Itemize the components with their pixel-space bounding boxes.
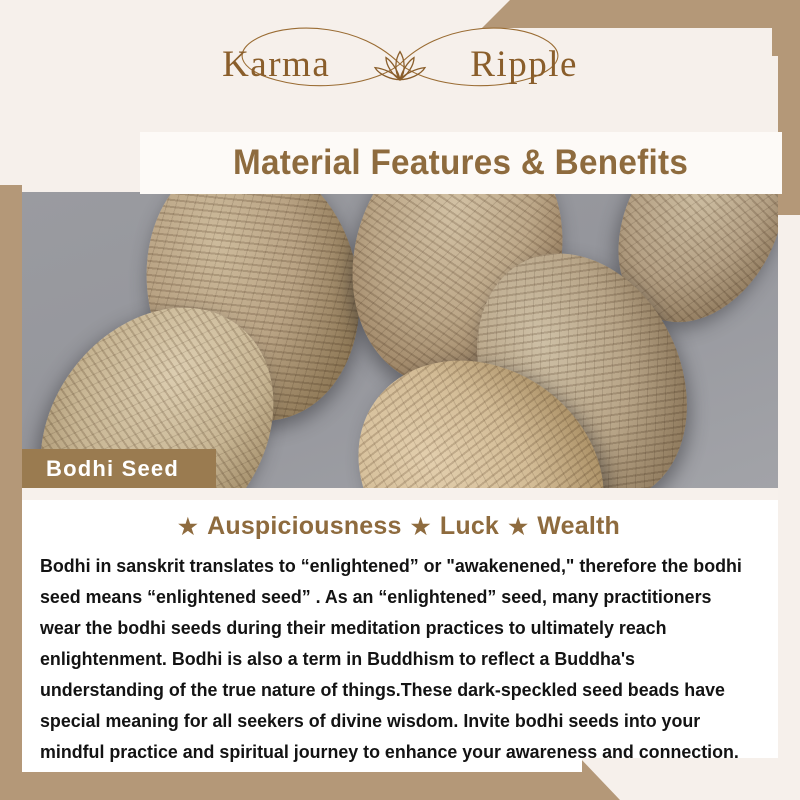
tagline-item-wealth: Wealth [537,512,620,540]
poster-page: Karma Ripple Material Features & Benefit… [0,0,800,800]
brand-name-right: Ripple [470,46,578,83]
lotus-icon [371,46,429,86]
brand-header: Karma Ripple [22,0,778,128]
tagline: ★ Auspiciousness ★ Luck ★ Wealth [22,512,778,541]
tagline-item-luck: Luck [440,512,499,540]
page-title: Material Features & Benefits [233,143,688,183]
tagline-item-auspiciousness: Auspiciousness [207,512,402,540]
product-photo [22,192,778,488]
left-edge-frame-decoration [0,185,22,775]
seed-name-banner: Bodhi Seed [22,449,216,488]
star-icon: ★ [508,514,528,539]
star-icon: ★ [411,514,431,539]
description-text: Bodhi in sanskrit translates to “enlight… [40,550,742,767]
brand-logo: Karma Ripple [190,26,610,102]
seed-name-label: Bodhi Seed [22,456,179,482]
title-banner: Material Features & Benefits [140,132,782,194]
panel-top-strip [22,488,778,500]
brand-name-left: Karma [222,46,330,83]
description-panel: ★ Auspiciousness ★ Luck ★ Wealth Bodhi i… [22,488,778,758]
star-icon: ★ [178,514,198,539]
